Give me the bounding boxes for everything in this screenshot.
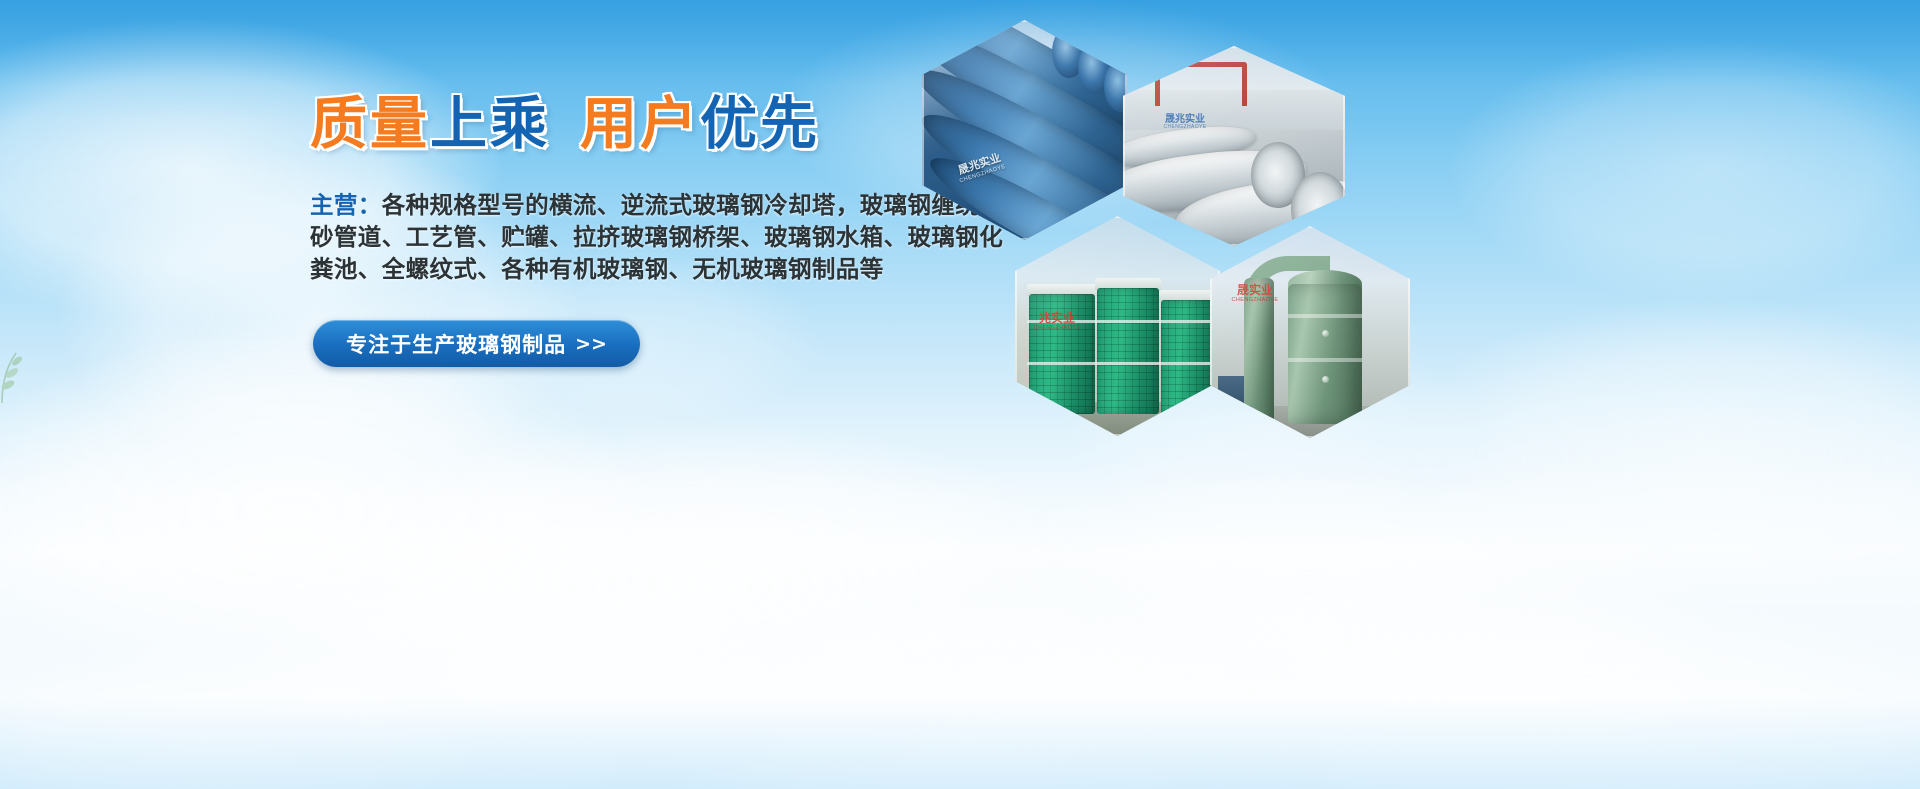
- headline: 质量上乘用户优先: [310, 96, 930, 153]
- banner-copy: 质量上乘用户优先 主营：各种规格型号的横流、逆流式玻璃钢冷却塔，玻璃钢缠绕加 砂…: [310, 96, 930, 285]
- photo-watermark-text: 兆实业: [1039, 311, 1075, 325]
- cloud-shape: [900, 470, 1720, 789]
- cloud-shape: [330, 420, 1090, 750]
- photo-watermark: 兆实业 CHENGZHAOYE: [1021, 312, 1093, 352]
- tower-bolt: [1322, 376, 1329, 383]
- product-hex-collage: 晟兆实业 CHENGZHAOYE 晟兆实业 CHENGZHAOYE: [905, 8, 1445, 408]
- description-line-3: 粪池、全螺纹式、各种有机玻璃钢、无机玻璃钢制品等: [310, 253, 910, 285]
- tower-bolt: [1322, 330, 1329, 337]
- cloud-shape: [0, 640, 480, 789]
- description-block: 主营：各种规格型号的横流、逆流式玻璃钢冷却塔，玻璃钢缠绕加 砂管道、工艺管、贮罐…: [310, 189, 910, 285]
- cta-label: 专注于生产玻璃钢制品: [346, 329, 566, 359]
- leaf-sprig-icon: [0, 345, 34, 403]
- chevron-right-double-icon: >>: [575, 333, 607, 355]
- photo-gray-frp-pipes: 晟兆实业 CHENGZHAOYE: [1123, 46, 1345, 246]
- cta-button[interactable]: 专注于生产玻璃钢制品 >>: [313, 320, 640, 367]
- photo-watermark-text: 晟实业: [1237, 283, 1273, 297]
- hex-photo-blue-frp-pipes[interactable]: 晟兆实业 CHENGZHAOYE: [922, 20, 1127, 240]
- tower-rail: [1027, 362, 1217, 365]
- headline-segment-1: 质量: [310, 91, 430, 157]
- cooling-tower-shape: [1161, 300, 1213, 414]
- hex-photo-gray-frp-pipes[interactable]: 晟兆实业 CHENGZHAOYE: [1123, 46, 1345, 246]
- headline-segment-2: 上乘: [430, 91, 550, 157]
- cooling-tower-shape: [1097, 288, 1159, 414]
- headline-segment-3: 用户: [580, 91, 700, 157]
- cloud-shape: [230, 560, 790, 789]
- tower-band: [1288, 358, 1362, 362]
- description-line-1: 主营：各种规格型号的横流、逆流式玻璃钢冷却塔，玻璃钢缠绕加: [310, 189, 910, 221]
- hex-photo-cooling-towers[interactable]: 兆实业 CHENGZHAOYE: [1015, 216, 1220, 436]
- cloud-shape: [1180, 600, 1920, 789]
- photo-watermark-sub: CHENGZHAOYE: [1021, 325, 1093, 331]
- scrubber-body-shape: [1288, 284, 1362, 424]
- photo-red-frame: [1155, 62, 1247, 106]
- photo-blue-frp-pipes: 晟兆实业 CHENGZHAOYE: [922, 20, 1127, 240]
- hex-photo-scrubber-tower[interactable]: 晟实业 CHENGZHAOYE: [1210, 226, 1410, 438]
- photo-scrubber-tower: 晟实业 CHENGZHAOYE: [1210, 226, 1410, 438]
- sky-bottom-haze: [0, 459, 1920, 789]
- photo-cooling-towers: 兆实业 CHENGZHAOYE: [1015, 216, 1220, 436]
- description-line-2: 砂管道、工艺管、贮罐、拉挤玻璃钢桥架、玻璃钢水箱、玻璃钢化: [310, 221, 910, 253]
- photo-watermark: 晟兆实业 CHENGZHAOYE: [1143, 114, 1227, 136]
- cloud-shape: [0, 330, 640, 690]
- photo-watermark: 晟实业 CHENGZHAOYE: [1218, 284, 1292, 322]
- description-lead-label: 主营：: [310, 191, 382, 219]
- cloud-shape: [1400, 300, 1920, 600]
- headline-segment-4: 优先: [700, 91, 820, 157]
- tower-band: [1288, 314, 1362, 318]
- cloud-shape: [1450, 40, 1920, 300]
- cloud-shape: [620, 600, 1320, 789]
- promo-banner: 质量上乘用户优先 主营：各种规格型号的横流、逆流式玻璃钢冷却塔，玻璃钢缠绕加 砂…: [0, 0, 1920, 789]
- photo-watermark-sub: CHENGZHAOYE: [1218, 297, 1292, 303]
- photo-watermark-sub: CHENGZHAOYE: [1143, 125, 1227, 131]
